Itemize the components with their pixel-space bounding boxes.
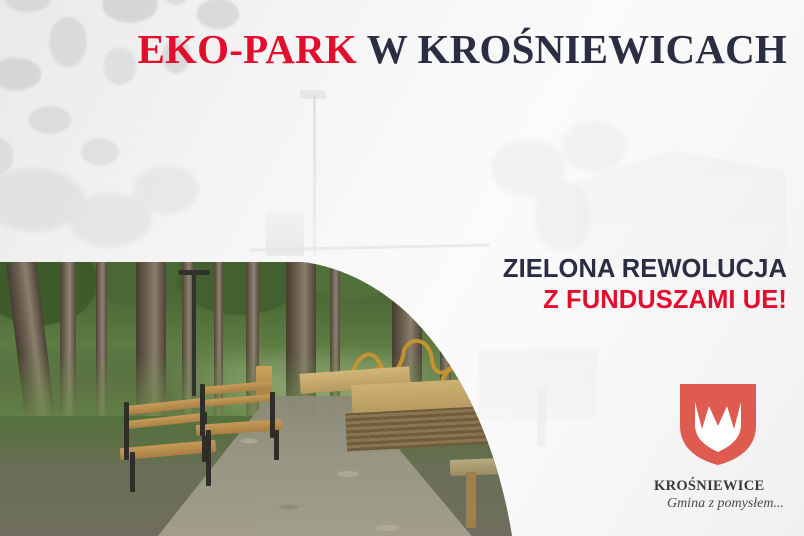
bench-leg bbox=[130, 452, 135, 492]
photo-lamp-head bbox=[178, 270, 210, 275]
subtitle-line-1: ZIELONA REWOLUCJA bbox=[503, 254, 787, 285]
coat-of-arms-shield-icon bbox=[678, 382, 758, 467]
photo-park-bench bbox=[196, 384, 282, 464]
logo-tagline: Gmina z pomysłem... bbox=[650, 496, 790, 512]
background-lamp-pole bbox=[313, 96, 316, 256]
subtitle-line-2: Z FUNDUSZAMI UE! bbox=[503, 285, 787, 316]
bench-backrest bbox=[202, 394, 272, 407]
bench-backrest bbox=[202, 381, 272, 395]
headline-location: W KROŚNIEWICACH bbox=[357, 26, 787, 72]
shield-svg bbox=[678, 382, 758, 467]
headline-eko-park: EKO-PARK bbox=[138, 26, 358, 72]
logo-municipality-name: KROŚNIEWICE bbox=[650, 478, 790, 495]
background-shrub bbox=[0, 140, 200, 270]
municipality-logo: KROŚNIEWICE Gmina z pomysłem... bbox=[650, 382, 790, 522]
bench-leg bbox=[124, 402, 129, 460]
photo-lamp-post bbox=[192, 270, 196, 396]
bench-leg bbox=[274, 430, 279, 460]
photo-table-leg bbox=[466, 472, 476, 528]
poster-headline: EKO-PARK W KROŚNIEWICACH bbox=[0, 29, 787, 70]
bench-leg bbox=[200, 384, 205, 436]
poster-canvas: EKO-PARK W KROŚNIEWICACH ZIELONA REWOLUC… bbox=[0, 0, 804, 536]
background-signboard-post bbox=[537, 388, 546, 446]
bench-leg bbox=[206, 430, 211, 464]
poster-subtitle: ZIELONA REWOLUCJA Z FUNDUSZAMI UE! bbox=[503, 254, 787, 316]
bench-backrest bbox=[126, 413, 204, 429]
